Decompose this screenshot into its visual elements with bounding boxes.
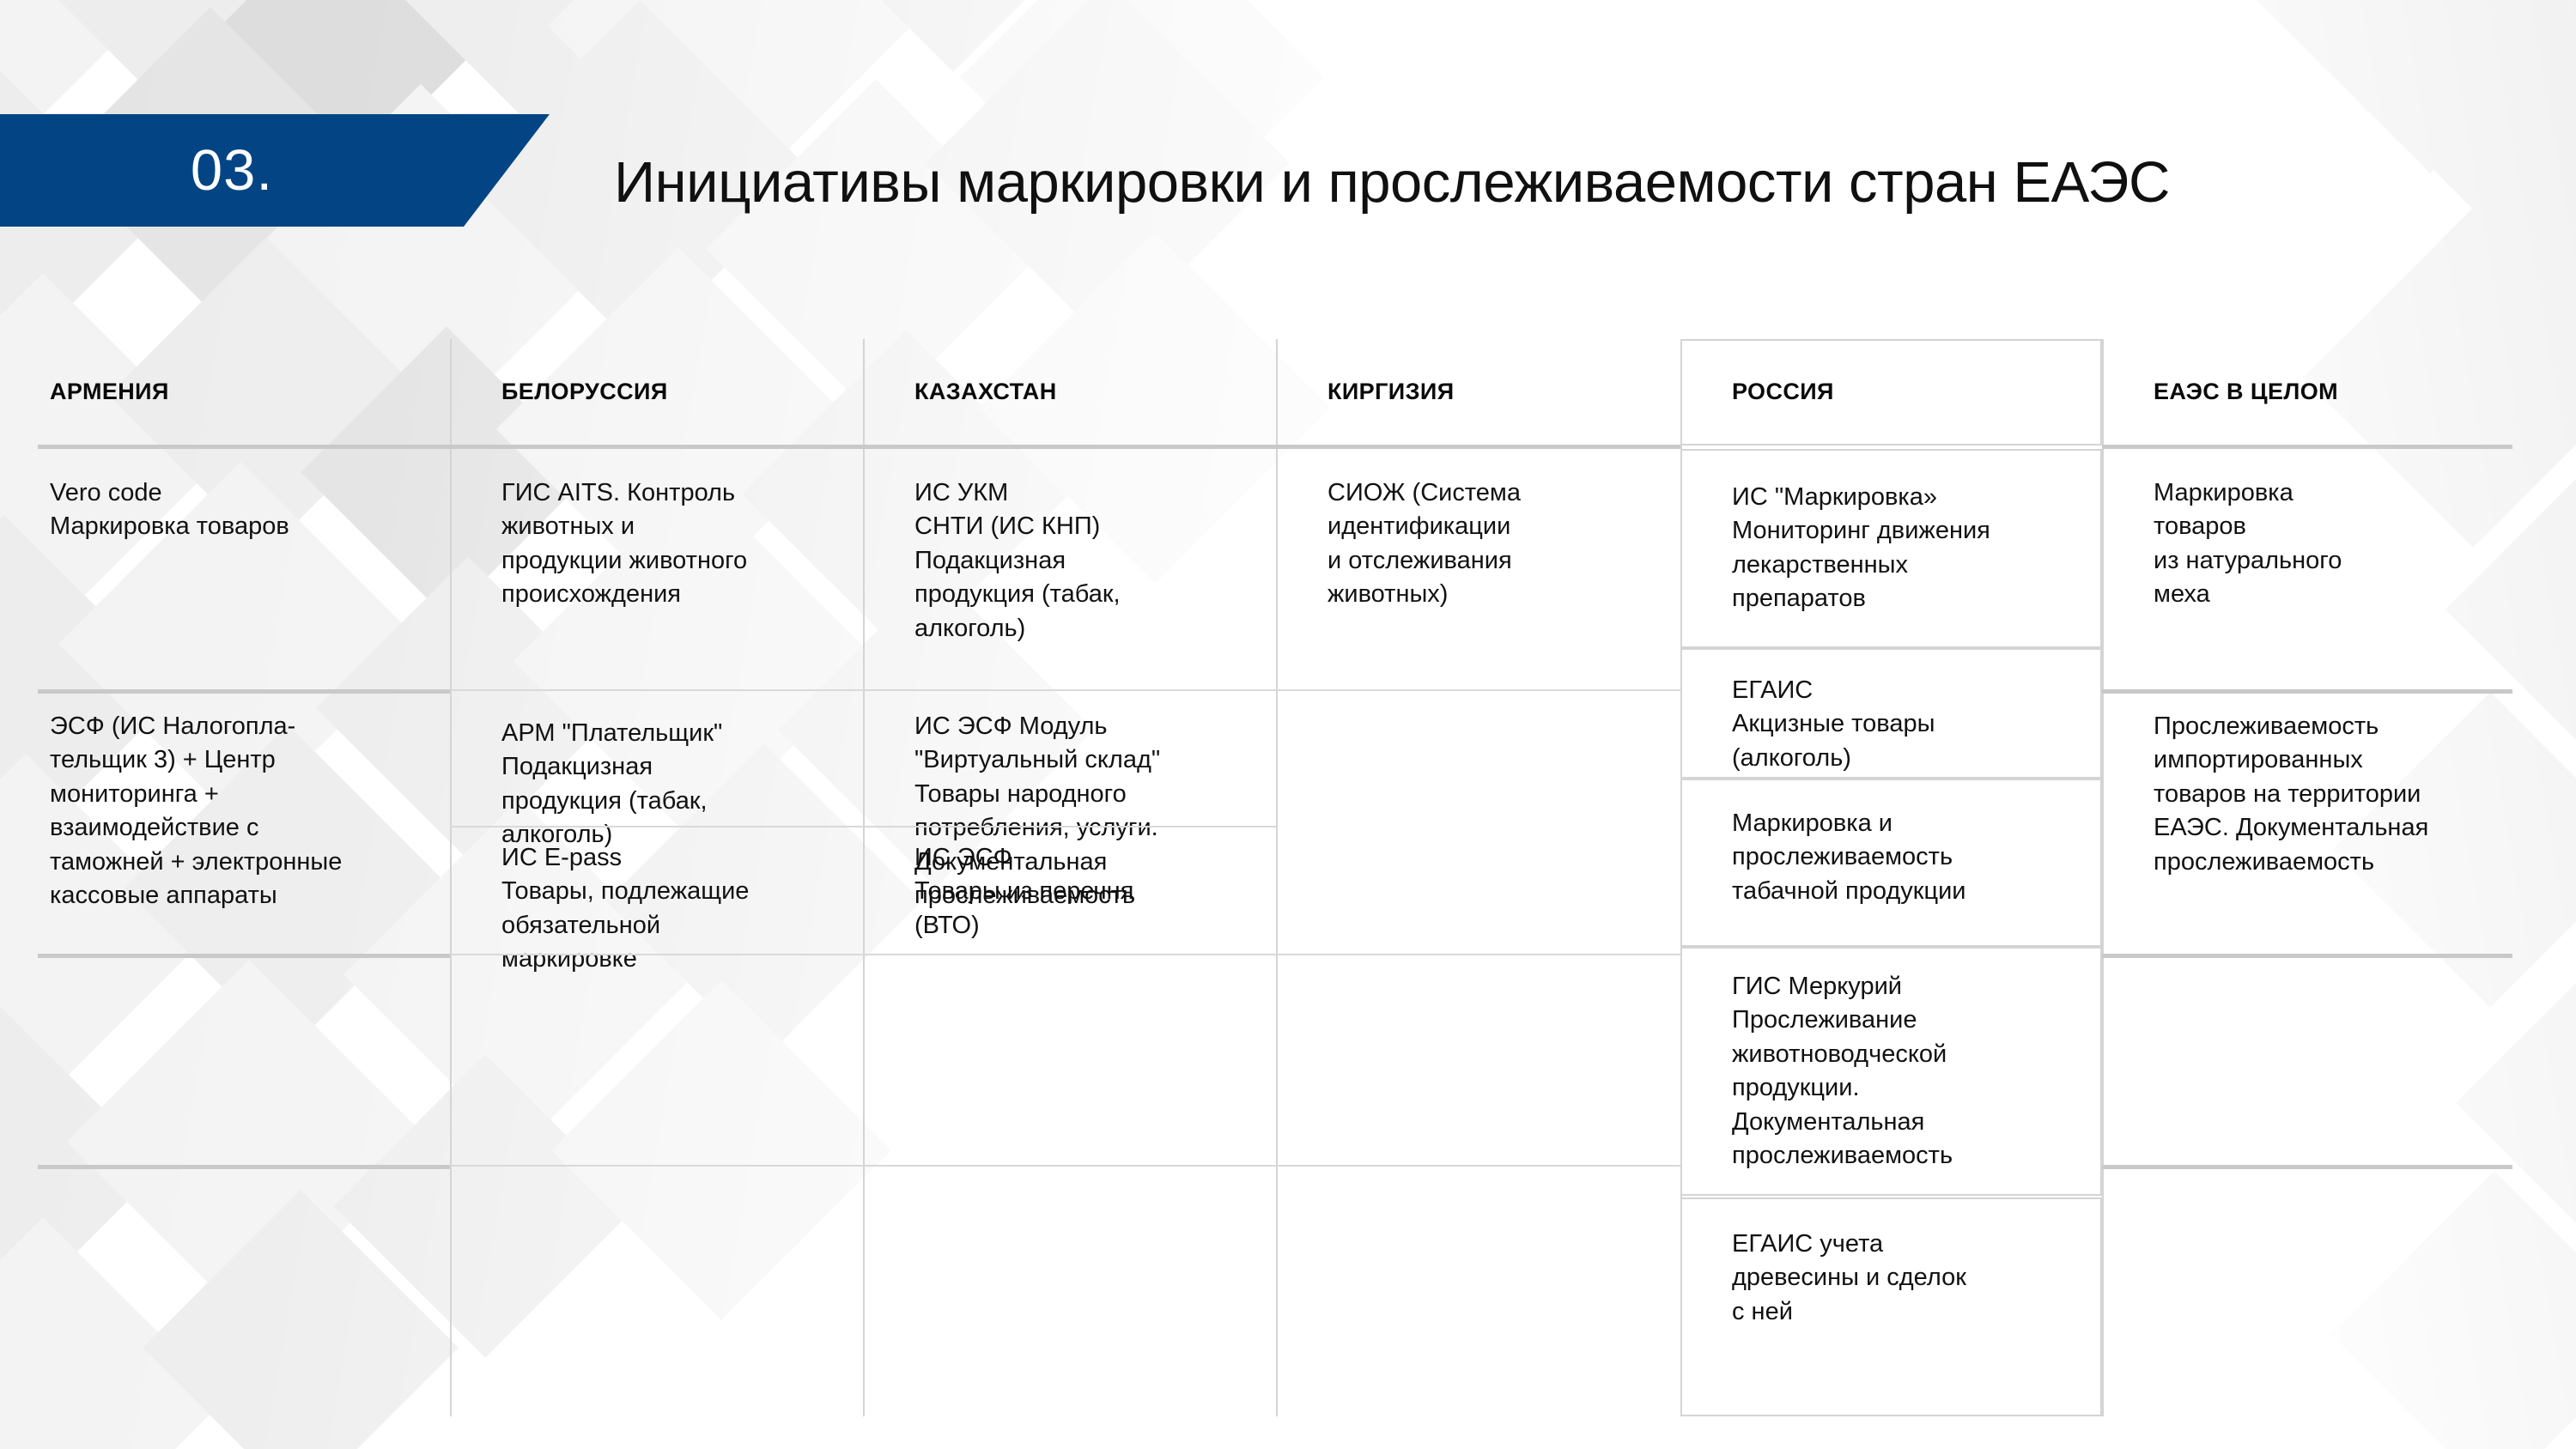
table-cell: Маркировка и прослеживаемость табачной п… [1732,807,2093,908]
table-cell: ИС УКМ СНТИ (ИС КНП) Подакцизная продукц… [914,476,1284,646]
table-cell: Прослеживаемость импортированных товаров… [2154,710,2540,879]
row-divider [863,689,1277,691]
row-divider [38,954,450,958]
row-divider [863,1165,1277,1167]
row-divider [2102,689,2512,694]
row-divider [450,826,864,828]
table-cell: Vero code Маркировка товаров [50,476,436,544]
table-cell: СИОЖ (Система идентификации и отслеживан… [1327,476,1688,612]
header-bottom-rule-left [38,445,1680,449]
row-divider [863,826,1277,828]
table-cell: ИС E-pass Товары, подлежащие обязательно… [501,841,871,977]
slide-number-badge: 03. [0,114,550,227]
row-divider [450,954,864,955]
initiatives-table: АРМЕНИЯ БЕЛОРУССИЯ КАЗАХСТАН КИРГИЗИЯ РО… [0,339,2512,1425]
table-cell: ИС ЭСФ Товары из перечня (ВТО) [914,841,1284,943]
russia-cell-box [1680,339,2102,446]
slide-number-label: 03. [191,142,273,199]
table-cell: ЕГАИС учета древесины и сделок с ней [1732,1228,2093,1329]
row-divider [450,689,864,691]
column-header-eaeu-total: ЕАЭС В ЦЕЛОМ [2154,339,2506,445]
table-cell: ГИС Меркурий Прослеживание животноводчес… [1732,970,2093,1173]
column-header-label: БЕЛОРУССИЯ [501,379,668,405]
table-cell: ГИС AITS. Контроль животных и продукции … [501,476,871,612]
column-header-armenia: АРМЕНИЯ [50,339,428,445]
table-cell: ИС "Маркировка» Мониторинг движения лека… [1732,481,2093,616]
column-divider-5 [2102,339,2104,1416]
row-divider [2102,954,2512,958]
page-title: Инициативы маркировки и прослеживаемости… [614,149,2520,216]
slide-root: 03. Инициативы маркировки и прослеживаем… [0,0,2576,1449]
row-divider [450,1165,864,1167]
column-header-kyrgyzstan: КИРГИЗИЯ [1327,339,1671,445]
column-header-belarus: БЕЛОРУССИЯ [501,339,845,445]
row-divider [38,689,450,694]
row-divider [2102,1165,2512,1169]
header-bottom-rule-right [2102,445,2512,449]
column-header-label: АРМЕНИЯ [50,379,169,405]
row-divider [1276,954,1681,955]
table-cell: ЕГАИС Акцизные товары (алкоголь) [1732,674,2093,775]
row-divider [1276,1165,1681,1167]
row-divider [863,954,1277,955]
column-header-label: КИРГИЗИЯ [1327,379,1455,405]
row-divider [1276,689,1681,691]
column-header-label: ЕАЭС В ЦЕЛОМ [2154,379,2338,405]
table-cell: АРМ "Плательщик" Подакцизная продукция (… [501,717,871,852]
table-cell: ЭСФ (ИС Налогопла- тельщик 3) + Центр мо… [50,710,462,913]
column-header-kazakhstan: КАЗАХСТАН [914,339,1258,445]
column-header-label: КАЗАХСТАН [914,379,1057,405]
row-divider [38,1165,450,1169]
table-cell: Маркировка товаров из натурального меха [2154,476,2523,612]
